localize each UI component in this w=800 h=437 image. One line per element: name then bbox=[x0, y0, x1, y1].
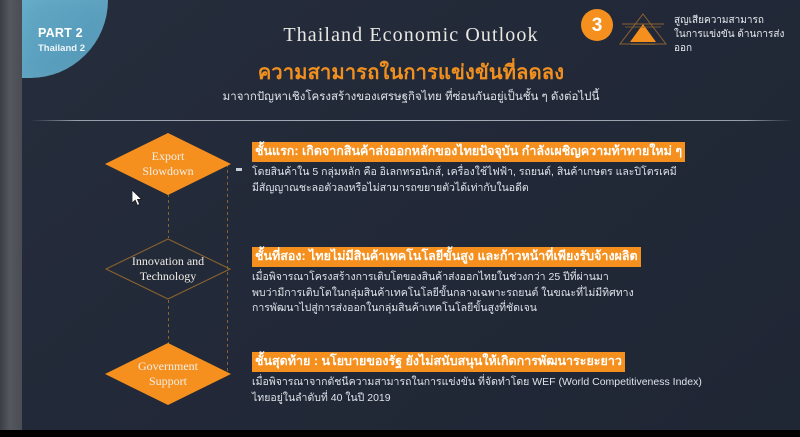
presentation-slide: PART 2 Thailand 2 Thailand Economic Outl… bbox=[22, 0, 800, 430]
viewer-bottom-bar bbox=[0, 430, 800, 437]
triangle-logo-icon bbox=[618, 11, 668, 47]
content-block-first: ชั้นแรก: เกิดจากสินค้าส่งออกหลักของไทยปั… bbox=[252, 142, 780, 196]
content-block-heading: ชั้นสุดท้าย : นโยบายของรัฐ ยังไม่สนับสนุ… bbox=[252, 352, 625, 372]
content-line: โดยสินค้าใน 5 กลุ่มหลัก คือ อิเลกทรอนิกส… bbox=[252, 165, 780, 181]
content-line: เมื่อพิจารณาโครงสร้างการเติบโตของสินค้าส… bbox=[252, 270, 780, 286]
content-block-third: ชั้นสุดท้าย : นโยบายของรัฐ ยังไม่สนับสนุ… bbox=[252, 352, 780, 406]
diagram-node-label-line-2: Support bbox=[149, 374, 187, 389]
content-line: การพัฒนาไปสู่การส่งออกในกลุ่มสินค้าเทคโน… bbox=[252, 301, 780, 317]
diagram-node-government-support[interactable]: Government Support bbox=[105, 343, 231, 405]
content-block-heading: ชั้นแรก: เกิดจากสินค้าส่งออกหลักของไทยปั… bbox=[252, 142, 685, 162]
content-line: มีสัญญาณชะลอตัวลงหรือไม่สามารถขยายตัวได้… bbox=[252, 181, 780, 197]
diagram-node-export-slowdown[interactable]: Export Slowdown bbox=[105, 133, 231, 195]
viewer-left-gutter bbox=[0, 0, 22, 430]
header-divider bbox=[30, 120, 792, 121]
content-block-body: โดยสินค้าใน 5 กลุ่มหลัก คือ อิเลกทรอนิกส… bbox=[252, 165, 780, 196]
content-line: พบว่ามีการเติบโตในกลุ่มสินค้าเทคโนโลยีขั… bbox=[252, 286, 780, 302]
content-line: ไทยอยู่ในลำดับที่ 40 ในปี 2019 bbox=[252, 391, 780, 407]
slide-thai-subtitle: มาจากปัญหาเชิงโครงสร้างของเศรษฐกิจไทย ที… bbox=[22, 88, 800, 106]
content-block-second: ชั้นที่สอง: ไทยไม่มีสินค้าเทคโนโลยีขั้นส… bbox=[252, 247, 780, 317]
content-line: เมื่อพิจารณาจากดัชนีความสามารถในการแข่งข… bbox=[252, 375, 780, 391]
diagram-node-innovation-technology[interactable]: Innovation and Technology bbox=[105, 238, 231, 300]
content-block-body: เมื่อพิจารณาโครงสร้างการเติบโตของสินค้าส… bbox=[252, 270, 780, 317]
logo-caption-line-2: ในการแข่งขัน ด้านการส่งออก bbox=[674, 28, 800, 56]
diagram-node-label-line-1: Innovation and bbox=[132, 254, 204, 269]
diagram-node-label-line-2: Slowdown bbox=[142, 164, 193, 179]
logo-caption-line-1: สูญเสียความสามารถ bbox=[674, 14, 800, 28]
diagram-node-label-line-2: Technology bbox=[140, 269, 196, 284]
diagram-dash-marker bbox=[236, 168, 242, 171]
slide-viewer: PART 2 Thailand 2 Thailand Economic Outl… bbox=[0, 0, 800, 437]
diagram-connector-lower bbox=[168, 300, 169, 344]
content-block-heading: ชั้นที่สอง: ไทยไม่มีสินค้าเทคโนโลยีขั้นส… bbox=[252, 247, 641, 267]
logo-caption: สูญเสียความสามารถ ในการแข่งขัน ด้านการส่… bbox=[674, 14, 800, 56]
slide-number-badge: 3 bbox=[581, 9, 613, 41]
content-block-body: เมื่อพิจารณาจากดัชนีความสามารถในการแข่งข… bbox=[252, 375, 780, 406]
diagram-node-label: Innovation and Technology bbox=[105, 238, 231, 300]
diagram-node-label-line-1: Export bbox=[152, 149, 185, 164]
slide-thai-title: ความสามารถในการแข่งขันที่ลดลง bbox=[22, 56, 800, 88]
diagram-node-label-line-1: Government bbox=[138, 359, 198, 374]
